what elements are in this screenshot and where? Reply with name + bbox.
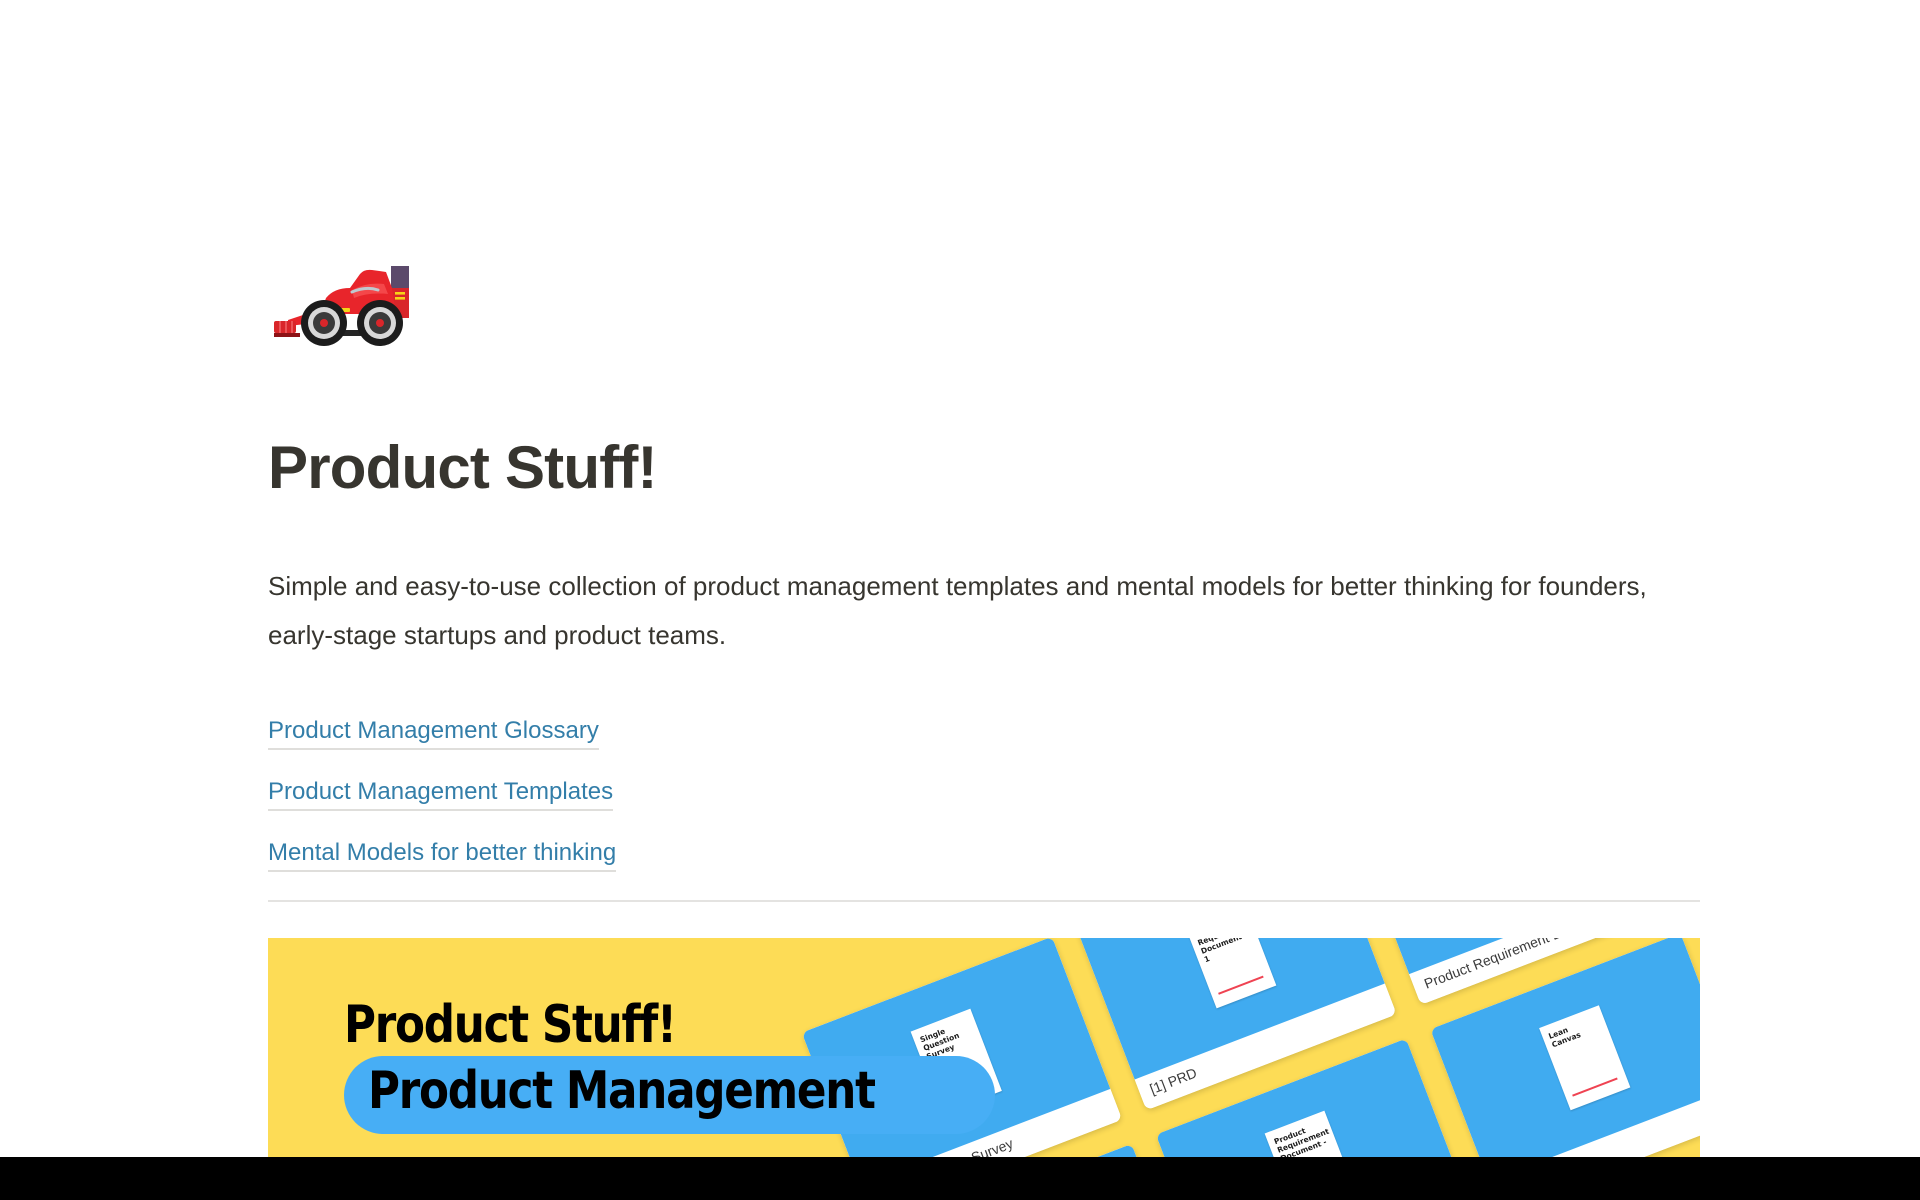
link-product-management-glossary[interactable]: Product Management Glossary xyxy=(268,716,599,750)
page-title: Product Stuff! xyxy=(268,432,657,504)
banner-heading-highlight: Product Management xyxy=(344,1056,995,1134)
banner-heading-group: Product Stuff! Product Management xyxy=(344,996,995,1134)
bottom-black-bar xyxy=(0,1157,1920,1200)
template-doc-preview: Lean Canvas xyxy=(1539,1005,1630,1110)
page-description: Simple and easy-to-use collection of pro… xyxy=(268,562,1668,660)
list-item: Product Management Glossary xyxy=(268,716,616,777)
link-product-management-templates[interactable]: Product Management Templates xyxy=(268,777,613,811)
banner-heading-line1: Product Stuff! xyxy=(344,996,891,1054)
divider xyxy=(268,900,1700,902)
link-mental-models-for-better-thinking[interactable]: Mental Models for better thinking xyxy=(268,838,616,872)
list-item: Mental Models for better thinking xyxy=(268,838,616,899)
list-item: Product Management Templates xyxy=(268,777,616,838)
template-doc-title: Lean Canvas xyxy=(1547,1013,1602,1048)
template-doc-preview: Product Requirement Document - 2 xyxy=(1264,1110,1355,1157)
banner-heading-line2: Product Management xyxy=(368,1060,875,1122)
template-doc-rule xyxy=(1218,976,1263,995)
template-doc-title: Product Requirement Document - 2 xyxy=(1273,1119,1334,1157)
racing-car-icon[interactable] xyxy=(268,248,430,358)
page-links-list: Product Management Glossary Product Mana… xyxy=(268,716,616,899)
template-doc-preview: Product Requirement Document - 1 xyxy=(1185,938,1276,1008)
template-doc-rule xyxy=(1572,1078,1617,1097)
banner-image[interactable]: Single Question Survey Single Question S… xyxy=(268,938,1700,1157)
template-doc-title: Product Requirement Document - 1 xyxy=(1193,938,1254,964)
notion-page: Product Stuff! Simple and easy-to-use co… xyxy=(0,0,1920,1200)
